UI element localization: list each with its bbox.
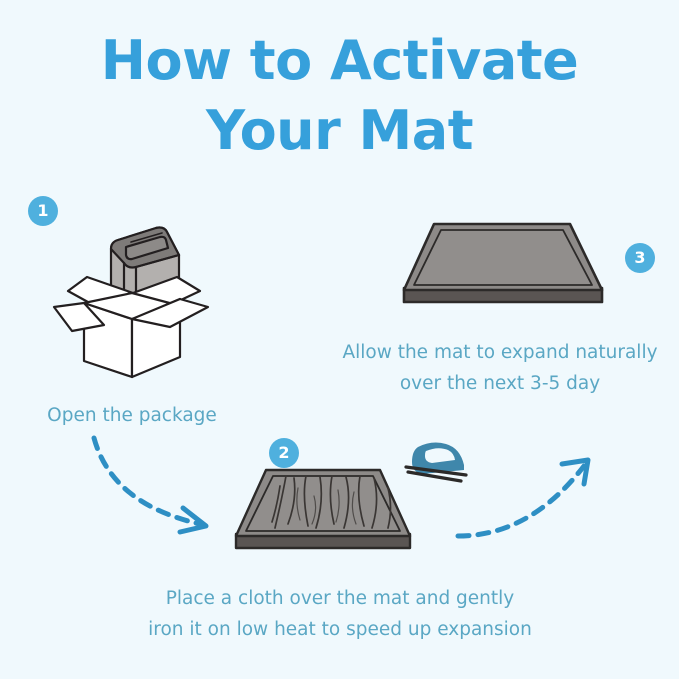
step-2-caption-line-1: Place a cloth over the mat and gently [110, 583, 570, 614]
step-1-caption-text: Open the package [47, 405, 217, 426]
title-line-2: Your Mat [0, 96, 679, 166]
step-3-caption-line-1: Allow the mat to expand naturally [320, 337, 679, 368]
wrinkled-mat-icon [228, 462, 418, 567]
step-3-caption: Allow the mat to expand naturally over t… [320, 337, 679, 399]
step-3-caption-line-2: over the next 3-5 day [320, 368, 679, 399]
infographic-canvas: How to Activate Your Mat 1 [0, 0, 679, 679]
page-title: How to Activate Your Mat [0, 26, 679, 166]
package-box-icon [40, 215, 225, 385]
title-line-1: How to Activate [0, 26, 679, 96]
step-badge-3: 3 [625, 243, 655, 273]
dashed-arrow-down-right-icon [88, 432, 228, 547]
step-2-caption: Place a cloth over the mat and gently ir… [110, 583, 570, 645]
step-1-caption: Open the package [0, 400, 264, 431]
dashed-arrow-up-right-icon [452, 448, 602, 553]
flat-mat-icon [398, 218, 610, 323]
step-2-caption-line-2: iron it on low heat to speed up expansio… [110, 614, 570, 645]
